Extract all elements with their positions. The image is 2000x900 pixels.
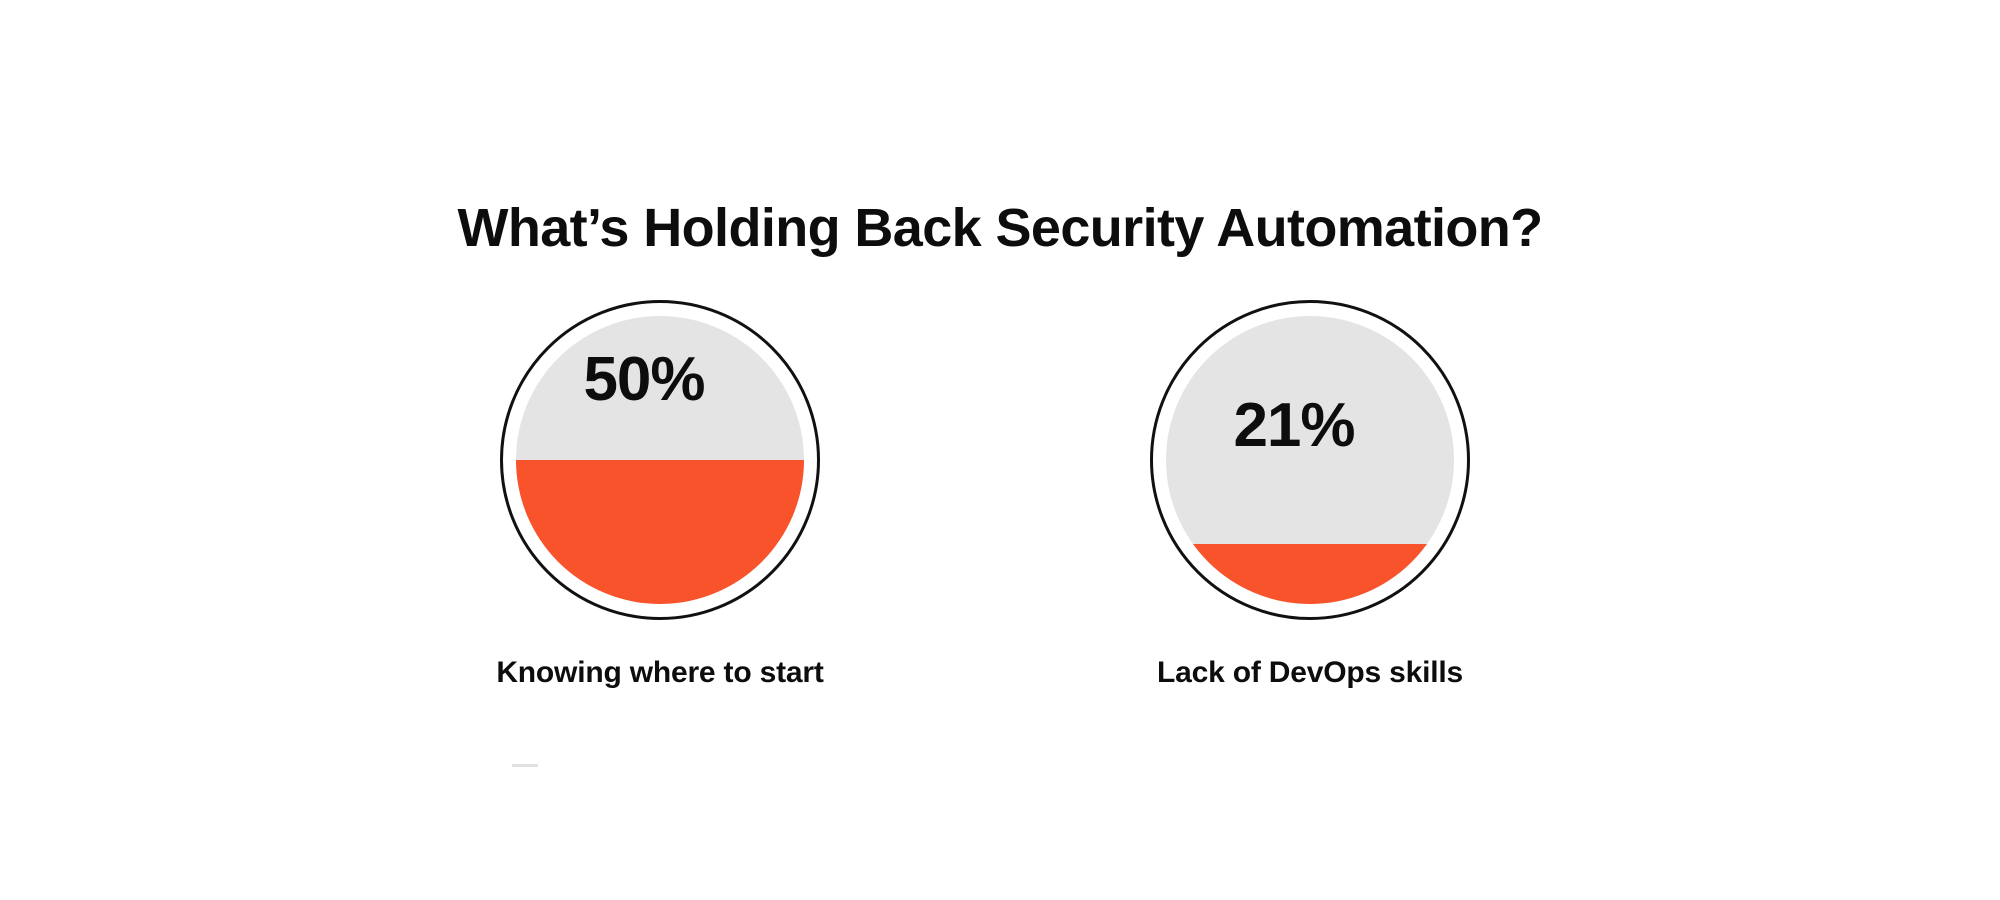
gauge-knowing-where-to-start: 50% Knowing where to start bbox=[445, 300, 875, 690]
gauge-lack-of-devops-skills: 21% Lack of DevOps skills bbox=[1095, 300, 1525, 690]
infographic-canvas: What’s Holding Back Security Automation?… bbox=[0, 0, 2000, 900]
title-row: What’s Holding Back Security Automation? bbox=[0, 160, 2000, 296]
page-title: What’s Holding Back Security Automation? bbox=[457, 196, 1542, 260]
gauge-caption: Knowing where to start bbox=[445, 656, 875, 690]
stray-mark-artifact bbox=[512, 764, 538, 767]
gauge-row: 50% Knowing where to start 21% Lack of D… bbox=[0, 300, 2000, 770]
gauge-caption: Lack of DevOps skills bbox=[1095, 656, 1525, 690]
gauge-fill-level bbox=[516, 460, 804, 604]
gauge-track bbox=[1166, 316, 1454, 604]
gauge-graphic: 21% bbox=[1150, 300, 1470, 620]
gauge-track bbox=[516, 316, 804, 604]
gauge-graphic: 50% bbox=[500, 300, 820, 620]
gauge-fill-level bbox=[1166, 544, 1454, 604]
